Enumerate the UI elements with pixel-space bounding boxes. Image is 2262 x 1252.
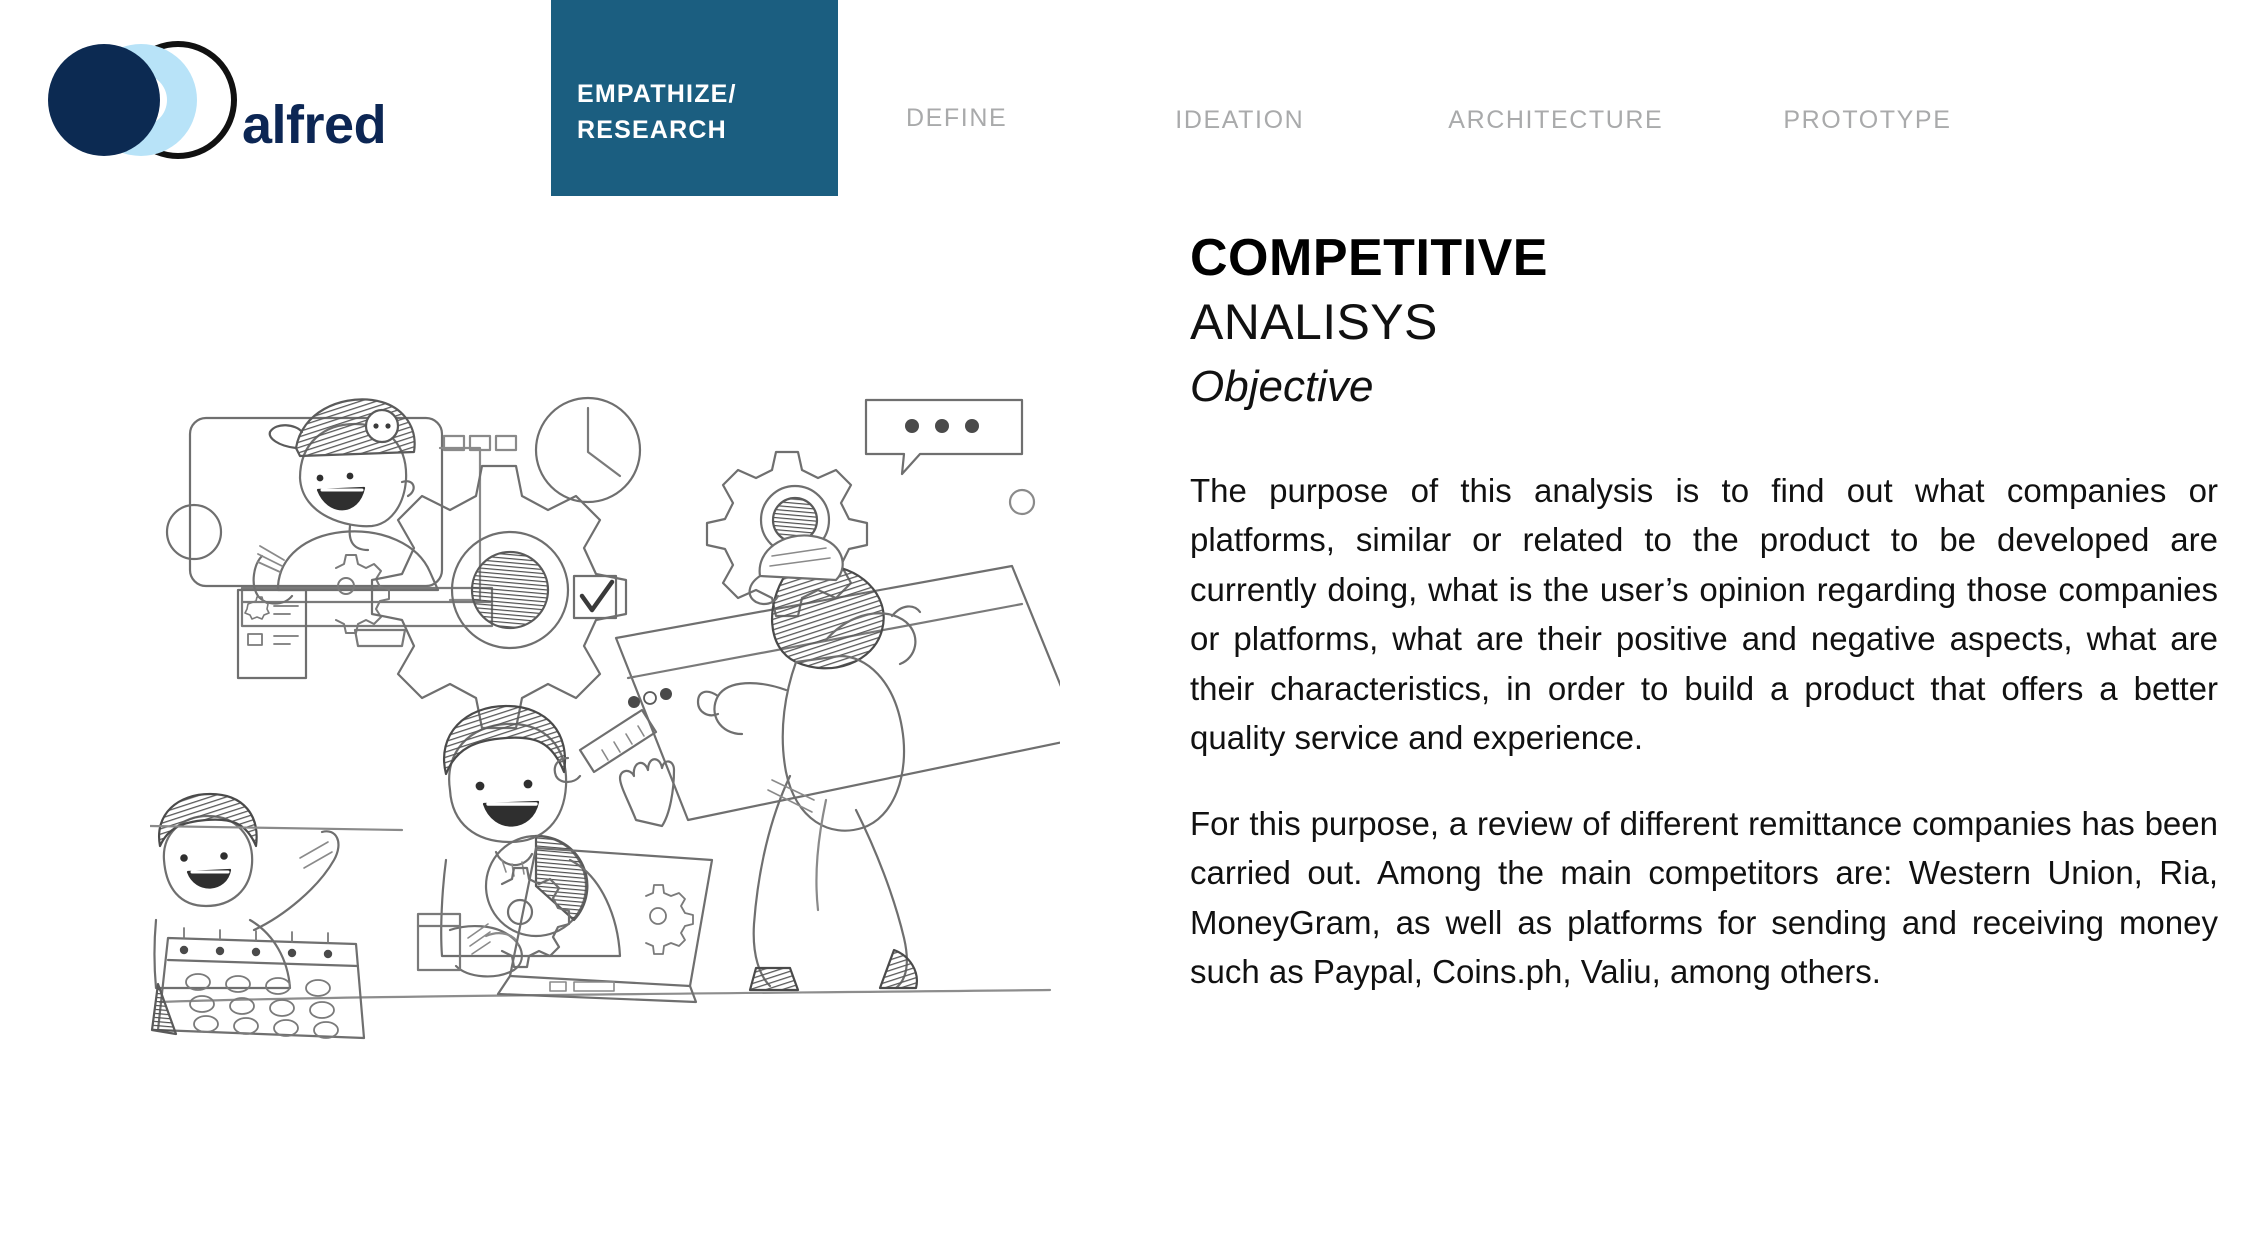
tab-prototype[interactable]: PROTOTYPE [1783,0,1951,135]
page-title-objective: Objective [1190,360,2218,414]
teamwork-sketch-svg [150,390,1060,1070]
tab-architecture-label: ARCHITECTURE [1448,106,1663,135]
alfred-logo-mark [46,28,264,168]
tab-ideation-label: IDEATION [1175,106,1304,135]
tab-label-line1: EMPATHIZE/ [577,80,737,108]
tab-ideation[interactable]: IDEATION [1175,0,1304,135]
body-text-block: The purpose of this analysis is to find … [1190,466,2218,997]
tab-define[interactable]: DEFINE [906,0,1007,133]
logo-circles-icon [46,28,264,168]
page-title-sub: ANALISYS [1190,292,2218,352]
slide-root: alfred EMPATHIZE/ RESEARCH DEFINE IDEATI… [0,0,2262,1252]
body-paragraph-2: For this purpose, a review of different … [1190,799,2218,997]
page-header: alfred EMPATHIZE/ RESEARCH DEFINE IDEATI… [0,0,2262,200]
brand-wordmark: alfred [242,98,386,152]
phase-nav: EMPATHIZE/ RESEARCH DEFINE IDEATION ARCH… [551,0,1951,200]
tab-architecture[interactable]: ARCHITECTURE [1448,0,1663,135]
tab-prototype-label: PROTOTYPE [1783,106,1951,135]
teamwork-sketch-illustration [150,390,1060,1070]
body-paragraph-1: The purpose of this analysis is to find … [1190,466,2218,763]
brand-logo[interactable]: alfred [46,28,264,168]
tab-define-label: DEFINE [906,104,1007,133]
phase-nav-list: EMPATHIZE/ RESEARCH DEFINE IDEATION ARCH… [551,0,1951,200]
tab-empathize-research[interactable]: EMPATHIZE/ RESEARCH [551,0,838,196]
page-title-main: COMPETITIVE [1190,228,2218,288]
tab-empathize-research-label: EMPATHIZE/ RESEARCH [577,76,737,197]
content-panel: COMPETITIVE ANALISYS Objective The purpo… [1190,228,2218,997]
tab-label-line2: RESEARCH [577,116,727,144]
